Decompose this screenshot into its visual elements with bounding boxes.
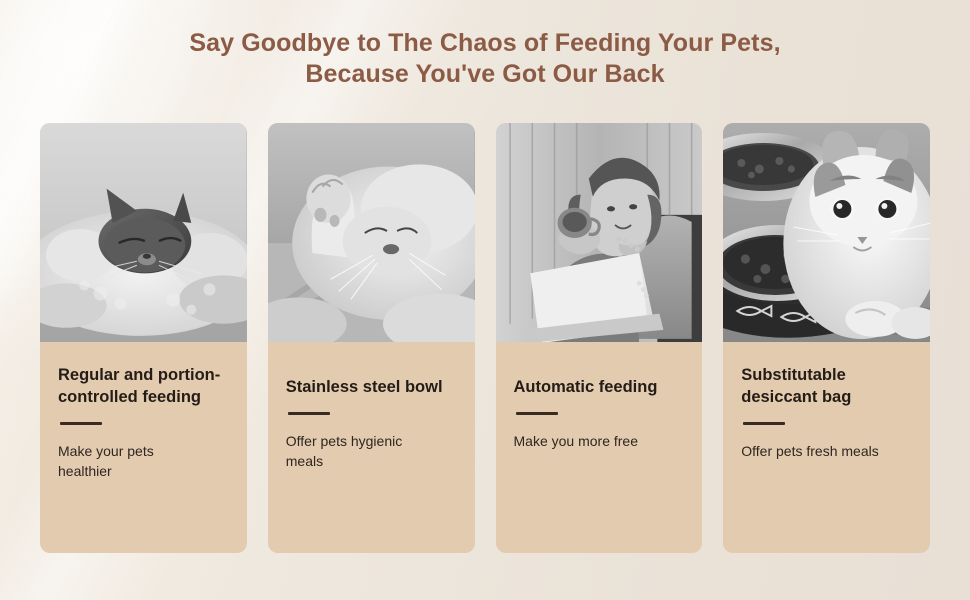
cat-sleeping-in-bed-photo — [40, 123, 247, 342]
feature-card-divider — [743, 422, 785, 425]
woman-with-laptop-photo — [496, 123, 703, 342]
feature-card-divider — [516, 412, 558, 415]
feature-card-body: Stainless steel bowl Offer pets hygienic… — [268, 342, 475, 553]
feature-card-divider — [60, 422, 102, 425]
feature-card-body: Substitutable desiccant bag Offer pets f… — [723, 342, 930, 553]
feature-card-title: Regular and portion- controlled feeding — [58, 364, 229, 408]
feature-card[interactable]: Substitutable desiccant bag Offer pets f… — [723, 123, 930, 553]
heading-line-2: Because You've Got Our Back — [0, 59, 970, 90]
feature-card-body: Regular and portion- controlled feeding … — [40, 342, 247, 553]
cat-eating-from-bowl-photo — [723, 123, 930, 342]
feature-card-title: Substitutable desiccant bag — [741, 364, 912, 408]
feature-card-subtitle: Offer pets hygienic meals — [286, 431, 457, 471]
feature-card-list: Regular and portion- controlled feeding … — [40, 123, 930, 553]
promo-banner: Say Goodbye to The Chaos of Feeding Your… — [0, 0, 970, 600]
feature-card[interactable]: Regular and portion- controlled feeding … — [40, 123, 247, 553]
page-heading: Say Goodbye to The Chaos of Feeding Your… — [0, 28, 970, 90]
feature-card[interactable]: Stainless steel bowl Offer pets hygienic… — [268, 123, 475, 553]
feature-card-title: Stainless steel bowl — [286, 376, 457, 398]
feature-card-subtitle: Make you more free — [514, 431, 685, 451]
feature-card-title: Automatic feeding — [514, 376, 685, 398]
heading-line-1: Say Goodbye to The Chaos of Feeding Your… — [0, 28, 970, 59]
feature-card[interactable]: Automatic feeding Make you more free — [496, 123, 703, 553]
feature-card-subtitle: Make your pets healthier — [58, 441, 229, 481]
cat-with-paw-up-photo — [268, 123, 475, 342]
feature-card-subtitle: Offer pets fresh meals — [741, 441, 912, 461]
feature-card-body: Automatic feeding Make you more free — [496, 342, 703, 553]
feature-card-divider — [288, 412, 330, 415]
